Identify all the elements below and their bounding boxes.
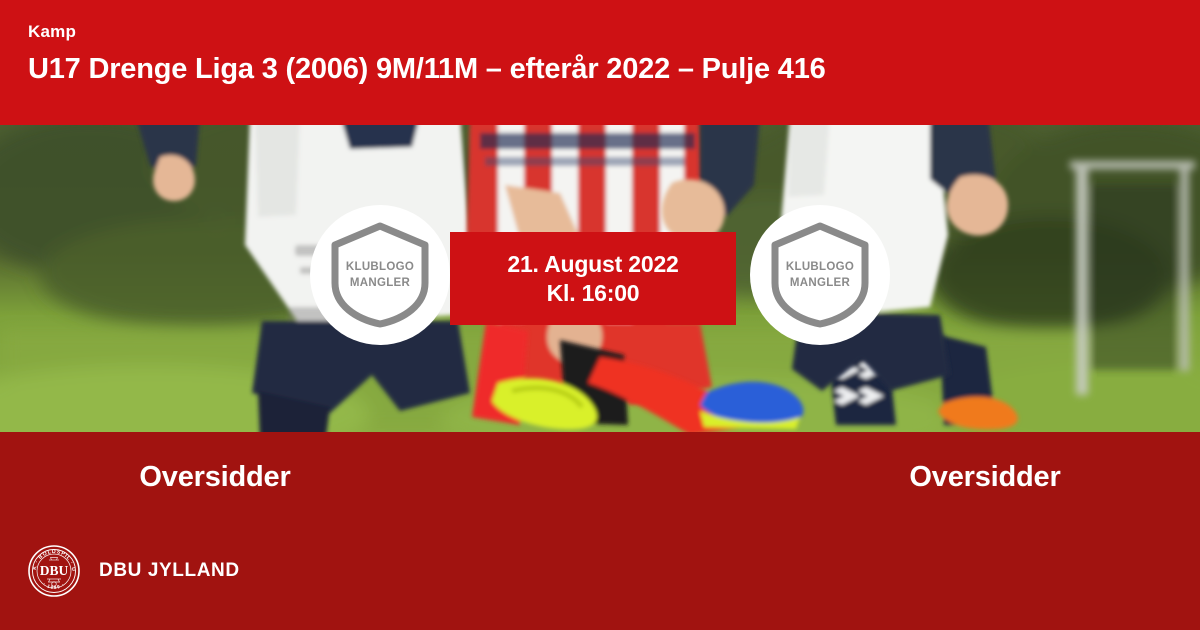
svg-text:DBU: DBU bbox=[40, 563, 69, 578]
away-badge-line1: KLUBLOGO bbox=[786, 261, 854, 274]
home-club-badge: KLUBLOGO MANGLER bbox=[310, 205, 450, 345]
page-title: U17 Drenge Liga 3 (2006) 9M/11M – efterå… bbox=[28, 49, 1200, 89]
fixture-date-banner: 21. August 2022 Kl. 16:00 bbox=[450, 232, 736, 325]
footer: DANSK · BOLDSPIL · UNION · 1889 · DBU DB… bbox=[28, 545, 240, 597]
home-badge-line1: KLUBLOGO bbox=[346, 261, 414, 274]
svg-text:· 1889 ·: · 1889 · bbox=[42, 582, 67, 591]
shield-placeholder-home: KLUBLOGO MANGLER bbox=[328, 221, 432, 329]
lower-band: Oversidder Oversidder bbox=[0, 432, 1200, 630]
away-badge-line2: MANGLER bbox=[790, 277, 850, 290]
home-badge-line2: MANGLER bbox=[350, 277, 410, 290]
dbu-seal-icon: DANSK · BOLDSPIL · UNION · 1889 · DBU bbox=[28, 545, 80, 597]
fixture-date: 21. August 2022 bbox=[507, 250, 678, 279]
home-team-name: Oversidder bbox=[0, 432, 600, 522]
page-header: Kamp U17 Drenge Liga 3 (2006) 9M/11M – e… bbox=[0, 0, 1200, 125]
footer-organisation: DBU JYLLAND bbox=[99, 560, 240, 582]
away-team-name: Oversidder bbox=[600, 432, 1200, 522]
fixture-time: Kl. 16:00 bbox=[547, 279, 640, 308]
shield-placeholder-away: KLUBLOGO MANGLER bbox=[768, 221, 872, 329]
away-club-badge: KLUBLOGO MANGLER bbox=[750, 205, 890, 345]
team-names-row: Oversidder Oversidder bbox=[0, 432, 1200, 522]
match-kind-label: Kamp bbox=[28, 22, 1200, 42]
